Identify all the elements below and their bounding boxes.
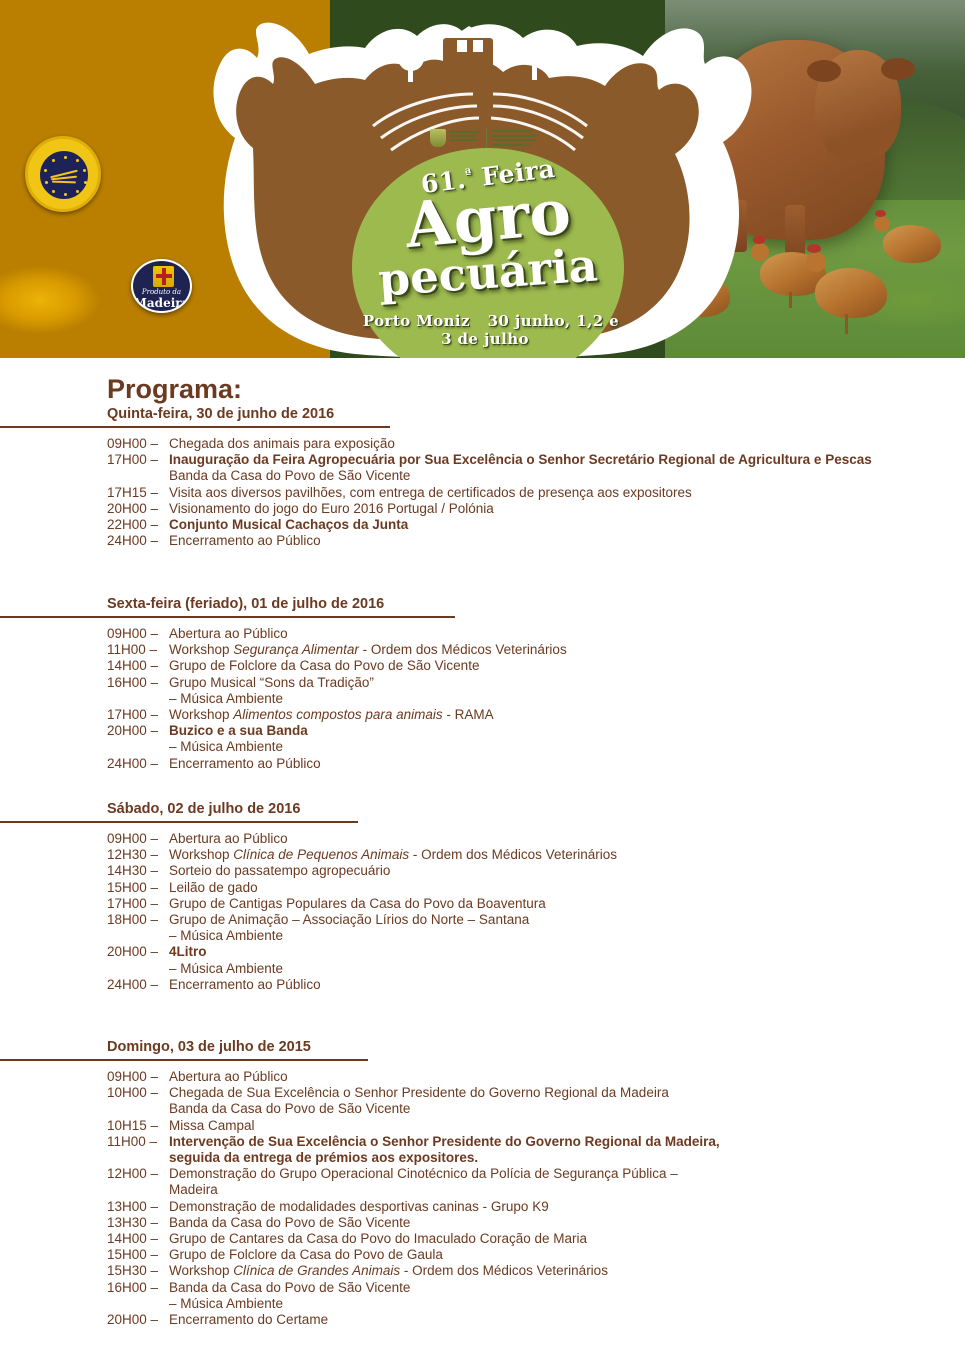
day-heading-rule [0, 1059, 368, 1061]
chicken-4-comb [875, 210, 886, 217]
entry-time: 09H00 – [107, 1069, 169, 1084]
program-continuation-row: – Música Ambiente [0, 739, 965, 755]
program-entry-row: 20H00 –Buzico e a sua Banda [0, 723, 965, 739]
entry-description: 4Litro [169, 944, 955, 959]
madeira-flag-icon [153, 266, 174, 287]
program-day: Sexta-feira (feriado), 01 de julho de 20… [0, 596, 965, 626]
entry-time: 16H00 – [107, 675, 169, 690]
entry-description: Chegada dos animais para exposição [169, 436, 955, 451]
entry-text-italic: Alimentos compostos para animais [233, 707, 442, 722]
cow-ear-right [881, 58, 915, 80]
entry-time: 10H00 – [107, 1085, 169, 1100]
dop-badge-icon [25, 136, 101, 212]
chicken-2-leg [845, 314, 848, 334]
program-entry-row: 13H30 –Banda da Casa do Povo de São Vice… [0, 1215, 965, 1231]
program-entry-row: 24H00 –Encerramento ao Público [0, 756, 965, 772]
entry-time: 17H00 – [107, 707, 169, 722]
entry-description: Sorteio do passatempo agropecuário [169, 863, 955, 878]
entry-description: Abertura ao Público [169, 831, 955, 846]
program-entry-row: 15H00 –Grupo de Folclore da Casa do Povo… [0, 1247, 965, 1263]
logo-lines-left [450, 131, 480, 145]
entry-time: 20H00 – [107, 944, 169, 959]
entry-description: Buzico e a sua Banda [169, 723, 955, 738]
entry-time: 13H00 – [107, 1199, 169, 1214]
entry-description: Workshop Clínica de Pequenos Animais - O… [169, 847, 955, 862]
entry-description: Encerramento ao Público [169, 977, 955, 992]
entry-text-post: - Ordem dos Médicos Veterinários [400, 1263, 608, 1278]
entry-description: Encerramento ao Público [169, 533, 955, 548]
entry-text-pre: Workshop [169, 642, 233, 657]
program-entry-row: 09H00 –Abertura ao Público [0, 1069, 965, 1085]
wheat-icon [50, 171, 80, 185]
entry-description: Missa Campal [169, 1118, 955, 1133]
madeira-cross-horizontal [156, 274, 172, 278]
program-entry-row: 17H00 –Workshop Alimentos compostos para… [0, 707, 965, 723]
entry-time: 11H00 – [107, 1134, 169, 1149]
entry-time: 14H30 – [107, 863, 169, 878]
program-entry-row: 22H00 –Conjunto Musical Cachaços da Junt… [0, 517, 965, 533]
day-heading-label: Sábado, 02 de julho de 2016 [107, 801, 300, 817]
program-entry-row: 09H00 –Abertura ao Público [0, 626, 965, 642]
cow-ear-left [807, 60, 841, 82]
day-heading: Sábado, 02 de julho de 2016 [0, 801, 965, 831]
entry-time: 13H30 – [107, 1215, 169, 1230]
entry-time: 14H00 – [107, 658, 169, 673]
poster-ordinal-mark: ª [464, 167, 473, 183]
program-day: Sábado, 02 de julho de 201609H00 –Abertu… [0, 801, 965, 831]
program-entry-row: 18H00 –Grupo de Animação – Associação Lí… [0, 912, 965, 928]
entry-time: 09H00 – [107, 626, 169, 641]
entry-time: 14H00 – [107, 1231, 169, 1246]
entry-text-post: - Ordem dos Médicos Veterinários [359, 642, 567, 657]
program-entry-row: 17H15 –Visita aos diversos pavilhões, co… [0, 485, 965, 501]
entry-description: Grupo de Animação – Associação Lírios do… [169, 912, 955, 927]
entry-time: 24H00 – [107, 533, 169, 548]
entry-description: Workshop Clínica de Grandes Animais - Or… [169, 1263, 955, 1278]
entry-description: Workshop Alimentos compostos para animai… [169, 707, 955, 722]
program-entry-row: 16H00 –Grupo Musical “Sons da Tradição” [0, 675, 965, 691]
entry-continuation-text: Banda da Casa do Povo de São Vicente [169, 1101, 955, 1116]
poster-location: Porto Moniz [363, 312, 470, 330]
chicken-2-head [806, 252, 826, 272]
entry-text-pre: Workshop [169, 847, 233, 862]
entry-continuation-text: seguida da entrega de prémios aos exposi… [169, 1150, 955, 1165]
entry-time: 17H00 – [107, 452, 169, 467]
poster-subtitle: Porto Moniz 30 junho, 1,2 e 3 de julho [352, 312, 624, 348]
entry-description: Grupo Musical “Sons da Tradição” [169, 675, 955, 690]
day-heading-rule [0, 616, 455, 618]
entry-time: 09H00 – [107, 831, 169, 846]
entry-continuation-text: Madeira [169, 1182, 955, 1197]
program-entry-row: 14H00 –Grupo de Cantares da Casa do Povo… [0, 1231, 965, 1247]
entry-text-pre: Workshop [169, 707, 233, 722]
entry-time: 12H30 – [107, 847, 169, 862]
poster-banner: 61.ª Feira Agro pecuária Porto Moniz 30 … [0, 0, 965, 358]
entry-time: 22H00 – [107, 517, 169, 532]
entry-continuation-text: Banda da Casa do Povo de São Vicente [169, 468, 955, 483]
entry-description: Abertura ao Público [169, 1069, 955, 1084]
program-entry-row: 24H00 –Encerramento ao Público [0, 977, 965, 993]
entry-time: 15H30 – [107, 1263, 169, 1278]
entry-time: 15H00 – [107, 1247, 169, 1262]
entry-text-post: - RAMA [443, 707, 494, 722]
program-entry-row: 09H00 –Chegada dos animais para exposiçã… [0, 436, 965, 452]
entry-time: 11H00 – [107, 642, 169, 657]
madeira-badge-line1: Produto da [133, 288, 190, 296]
entry-description: Encerramento do Certame [169, 1312, 955, 1327]
program-day: Quinta-feira, 30 de junho de 201609H00 –… [0, 406, 965, 436]
program-continuation-row: – Música Ambiente [0, 928, 965, 944]
entry-text-italic: Clínica de Pequenos Animais [233, 847, 409, 862]
entry-description: Demonstração do Grupo Operacional Cinoté… [169, 1166, 955, 1181]
entry-description: Visita aos diversos pavilhões, com entre… [169, 485, 955, 500]
logo-divider [486, 129, 487, 148]
government-logo-icon [430, 128, 540, 150]
program-continuation-row: – Música Ambiente [0, 691, 965, 707]
entry-description: Encerramento ao Público [169, 756, 955, 771]
entry-description: Conjunto Musical Cachaços da Junta [169, 517, 955, 532]
day-heading-label: Quinta-feira, 30 de junho de 2016 [107, 406, 334, 422]
entry-description: Grupo de Folclore da Casa do Povo de Gau… [169, 1247, 955, 1262]
program-continuation-row: – Música Ambiente [0, 961, 965, 977]
entry-time: 17H00 – [107, 896, 169, 911]
entry-continuation-text: – Música Ambiente [169, 739, 955, 754]
chicken-4-head [874, 216, 890, 232]
program-entry-row: 12H00 –Demonstração do Grupo Operacional… [0, 1166, 965, 1182]
program-entry-row: 17H00 –Grupo de Cantigas Populares da Ca… [0, 896, 965, 912]
day-heading: Quinta-feira, 30 de junho de 2016 [0, 406, 965, 436]
entry-description: Inauguração da Feira Agropecuária por Su… [169, 452, 955, 467]
logo-lines-right [492, 130, 540, 148]
entry-text-italic: Clínica de Grandes Animais [233, 1263, 400, 1278]
program-entry-row: 16H00 –Banda da Casa do Povo de São Vice… [0, 1280, 965, 1296]
entry-time: 15H00 – [107, 880, 169, 895]
program-entry-row: 14H30 –Sorteio do passatempo agropecuári… [0, 863, 965, 879]
entry-description: Banda da Casa do Povo de São Vicente [169, 1280, 955, 1295]
program-entry-row: 11H00 –Workshop Segurança Alimentar - Or… [0, 642, 965, 658]
day-heading-label: Sexta-feira (feriado), 01 de julho de 20… [107, 596, 384, 612]
program-entry-row: 20H00 –Encerramento do Certame [0, 1312, 965, 1328]
entry-description: Leilão de gado [169, 880, 955, 895]
entry-description: Demonstração de modalidades desportivas … [169, 1199, 955, 1214]
program-entry-row: 20H00 –4Litro [0, 944, 965, 960]
day-heading-rule [0, 426, 390, 428]
entry-time: 12H00 – [107, 1166, 169, 1181]
entry-text-post: - Ordem dos Médicos Veterinários [409, 847, 617, 862]
entry-continuation-text: – Música Ambiente [169, 691, 955, 706]
program-entry-row: 24H00 –Encerramento ao Público [0, 533, 965, 549]
program-entry-row: 09H00 –Abertura ao Público [0, 831, 965, 847]
entry-time: 20H00 – [107, 501, 169, 516]
program-entry-row: 20H00 –Visionamento do jogo do Euro 2016… [0, 501, 965, 517]
entry-description: Banda da Casa do Povo de São Vicente [169, 1215, 955, 1230]
entry-description: Grupo de Cantares da Casa do Povo do Ima… [169, 1231, 955, 1246]
day-heading-label: Domingo, 03 de julho de 2015 [107, 1039, 311, 1055]
poster-title-block: 61.ª Feira Agro pecuária Porto Moniz 30 … [352, 150, 624, 358]
entry-text-italic: Segurança Alimentar [233, 642, 359, 657]
entry-continuation-text: – Música Ambiente [169, 1296, 955, 1311]
entry-time: 18H00 – [107, 912, 169, 927]
entry-continuation-text: – Música Ambiente [169, 928, 955, 943]
entry-time: 09H00 – [107, 436, 169, 451]
program-continuation-row: Banda da Casa do Povo de São Vicente [0, 468, 965, 484]
program-day: Domingo, 03 de julho de 201509H00 –Abert… [0, 1039, 965, 1069]
program-entry-row: 10H00 –Chegada de Sua Excelência o Senho… [0, 1085, 965, 1101]
entry-time: 16H00 – [107, 1280, 169, 1295]
program-continuation-row: – Música Ambiente [0, 1296, 965, 1312]
program-entry-row: 12H30 –Workshop Clínica de Pequenos Anim… [0, 847, 965, 863]
entry-description: Visionamento do jogo do Euro 2016 Portug… [169, 501, 955, 516]
program-entry-row: 10H15 –Missa Campal [0, 1118, 965, 1134]
entry-description: Intervenção de Sua Excelência o Senhor P… [169, 1134, 955, 1149]
entry-description: Grupo de Cantigas Populares da Casa do P… [169, 896, 955, 911]
program-entry-row: 15H00 –Leilão de gado [0, 880, 965, 896]
entry-continuation-text: – Música Ambiente [169, 961, 955, 976]
entry-description: Workshop Segurança Alimentar - Ordem dos… [169, 642, 955, 657]
chicken-2-comb [807, 244, 821, 253]
program-continuation-row: seguida da entrega de prémios aos exposi… [0, 1150, 965, 1166]
entry-time: 20H00 – [107, 1312, 169, 1327]
entry-time: 24H00 – [107, 977, 169, 992]
chicken-2 [815, 268, 887, 318]
entry-text-pre: Workshop [169, 1263, 233, 1278]
entry-description: Abertura ao Público [169, 626, 955, 641]
program-entry-row: 11H00 –Intervenção de Sua Excelência o S… [0, 1134, 965, 1150]
program-entry-row: 14H00 –Grupo de Folclore da Casa do Povo… [0, 658, 965, 674]
program-entry-row: 15H30 –Workshop Clínica de Grandes Anima… [0, 1263, 965, 1279]
produto-da-madeira-badge-icon: Produto da Madeira [131, 259, 192, 313]
entry-time: 20H00 – [107, 723, 169, 738]
entry-time: 17H15 – [107, 485, 169, 500]
entry-description: Chegada de Sua Excelência o Senhor Presi… [169, 1085, 955, 1100]
day-heading: Sexta-feira (feriado), 01 de julho de 20… [0, 596, 965, 626]
program-entry-row: 13H00 –Demonstração de modalidades despo… [0, 1199, 965, 1215]
chicken-1-leg [789, 292, 792, 308]
entry-time: 10H15 – [107, 1118, 169, 1133]
program-continuation-row: Banda da Casa do Povo de São Vicente [0, 1101, 965, 1117]
entry-time: 24H00 – [107, 756, 169, 771]
page-title: Programa: [107, 374, 242, 405]
crest-icon [430, 129, 446, 147]
chicken-4 [883, 225, 941, 263]
day-heading-rule [0, 821, 358, 823]
program-entry-row: 17H00 –Inauguração da Feira Agropecuária… [0, 452, 965, 468]
program-continuation-row: Madeira [0, 1182, 965, 1198]
entry-description: Grupo de Folclore da Casa do Povo de São… [169, 658, 955, 673]
madeira-badge-line2: Madeira [133, 296, 190, 310]
day-heading: Domingo, 03 de julho de 2015 [0, 1039, 965, 1069]
